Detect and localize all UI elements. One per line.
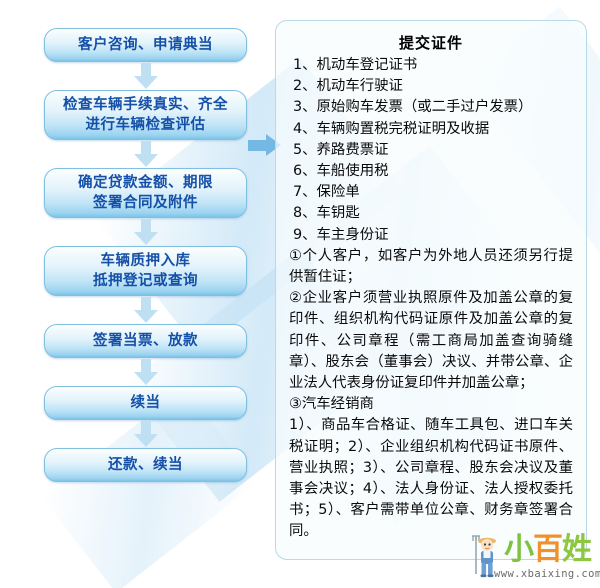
flow-step-label: 进行车辆检查评估 <box>63 115 228 135</box>
document-item: 7、保险单 <box>289 182 573 203</box>
arrow-down-icon <box>133 297 159 323</box>
flow-step-label-group: 车辆质押入库 抵押登记或查询 <box>93 251 198 291</box>
flow-connector-2 <box>44 140 247 168</box>
arrow-down-icon <box>133 421 159 447</box>
flow-connector-4 <box>44 296 247 324</box>
flow-step-label: 确定贷款金额、期限 <box>78 173 213 193</box>
process-flowchart: 客户咨询、申请典当 检查车辆手续真实、齐全 进行车辆检查评估 确定贷款金额、期限… <box>44 28 249 482</box>
document-item: 6、车船使用税 <box>289 161 573 182</box>
flow-step-4[interactable]: 车辆质押入库 抵押登记或查询 <box>44 246 247 296</box>
flow-step-2[interactable]: 检查车辆手续真实、齐全 进行车辆检查评估 <box>44 90 247 140</box>
flow-step-label: 签署当票、放款 <box>93 331 198 351</box>
panel-title: 提交证件 <box>289 33 573 53</box>
flow-step-6[interactable]: 续当 <box>44 386 247 420</box>
flow-step-label-group: 确定贷款金额、期限 签署合同及附件 <box>78 173 213 213</box>
document-note: ①个人客户，如客户为外地人员还须另行提供暂住证； <box>289 246 573 288</box>
flow-step-label: 抵押登记或查询 <box>93 271 198 291</box>
flow-connector-6 <box>44 420 247 448</box>
watermark-url: www.xbaixing.com <box>494 568 600 580</box>
document-item: 4、车辆购置税完税证明及收据 <box>289 119 573 140</box>
flow-step-label: 客户咨询、申请典当 <box>78 35 213 55</box>
document-note: ②企业客户须营业执照原件及加盖公章的复印件、组织机构代码证原件及加盖公章的复印件… <box>289 288 573 394</box>
flow-step-label-group: 检查车辆手续真实、齐全 进行车辆检查评估 <box>63 95 228 135</box>
flow-step-label: 续当 <box>131 393 161 413</box>
arrow-down-icon <box>133 63 159 89</box>
flow-step-3[interactable]: 确定贷款金额、期限 签署合同及附件 <box>44 168 247 218</box>
arrow-down-icon <box>133 219 159 245</box>
document-note: 1）、商品车合格证、随车工具包、进口车关税证明；2）、企业组织机构代码证书原件、… <box>289 415 573 542</box>
required-documents-panel: 提交证件 1、机动车登记证书 2、机动车行驶证 3、原始购车发票（或二手过户发票… <box>275 20 587 560</box>
flow-connector-3 <box>44 218 247 246</box>
arrow-down-icon <box>133 359 159 385</box>
flow-connector-5 <box>44 358 247 386</box>
flow-step-1[interactable]: 客户咨询、申请典当 <box>44 28 247 62</box>
document-item: 2、机动车行驶证 <box>289 76 573 97</box>
flow-step-label: 车辆质押入库 <box>93 251 198 271</box>
flow-connector-1 <box>44 62 247 90</box>
flow-step-label: 检查车辆手续真实、齐全 <box>63 95 228 115</box>
arrow-down-icon <box>133 141 159 167</box>
document-item: 5、养路费票证 <box>289 140 573 161</box>
flow-step-5[interactable]: 签署当票、放款 <box>44 324 247 358</box>
flow-step-7[interactable]: 还款、续当 <box>44 448 247 482</box>
document-item: 9、车主身份证 <box>289 225 573 246</box>
document-item: 1、机动车登记证书 <box>289 55 573 76</box>
flow-step-label: 还款、续当 <box>108 455 183 475</box>
document-item: 8、车钥匙 <box>289 203 573 224</box>
flow-step-label: 签署合同及附件 <box>78 193 213 213</box>
document-note: ③汽车经销商 <box>289 394 573 415</box>
document-item: 3、原始购车发票（或二手过户发票） <box>289 97 573 118</box>
